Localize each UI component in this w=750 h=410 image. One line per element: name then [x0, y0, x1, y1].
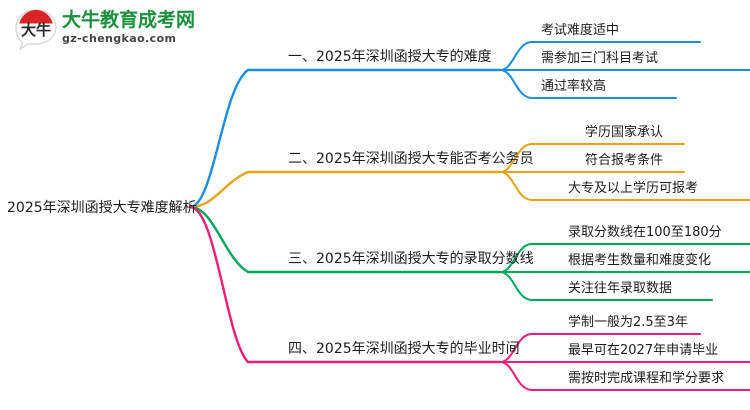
- leaf-node-1-3[interactable]: 通过率较高: [541, 75, 606, 94]
- leaf-node-4-2[interactable]: 最早可在2027年申请毕业: [568, 339, 718, 358]
- branch-node-4[interactable]: 四、2025年深圳函授大专的毕业时间: [288, 338, 520, 358]
- branch-node-2[interactable]: 二、2025年深圳函授大专能否考公务员: [288, 148, 534, 168]
- leaf-node-4-1[interactable]: 学制一般为2.5至3年: [568, 311, 688, 330]
- leaf-node-4-3[interactable]: 需按时完成课程和学分要求: [568, 367, 724, 386]
- mindmap-canvas: 大牛 大牛教育成考网 gz-chengkao.com: [0, 0, 750, 410]
- leaf-node-2-3[interactable]: 大专及以上学历可报考: [568, 177, 698, 196]
- leaf-node-3-2[interactable]: 根据考生数量和难度变化: [568, 249, 711, 268]
- leaf-node-2-2[interactable]: 符合报考条件: [585, 149, 663, 168]
- leaf-node-1-1[interactable]: 考试难度适中: [541, 19, 619, 38]
- mindmap-root-node[interactable]: 2025年深圳函授大专难度解析: [7, 197, 197, 217]
- leaf-node-1-2[interactable]: 需参加三门科目考试: [541, 47, 658, 66]
- branch-node-3[interactable]: 三、2025年深圳函授大专的录取分数线: [288, 248, 534, 268]
- branch-node-1[interactable]: 一、2025年深圳函授大专的难度: [288, 46, 492, 66]
- leaf-node-2-1[interactable]: 学历国家承认: [585, 121, 663, 140]
- leaf-node-3-1[interactable]: 录取分数线在100至180分: [568, 221, 722, 240]
- leaf-node-3-3[interactable]: 关注往年录取数据: [568, 277, 672, 296]
